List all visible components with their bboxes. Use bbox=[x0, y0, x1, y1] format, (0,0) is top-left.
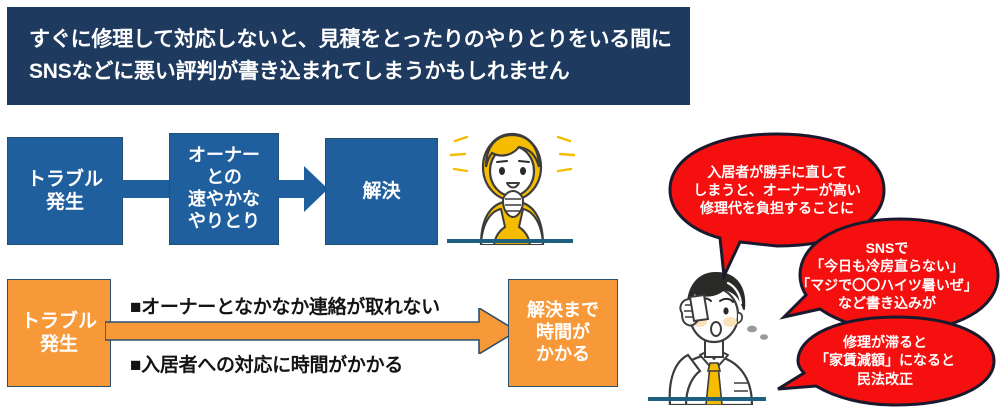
flowbox-trouble-blue: トラブル 発生 bbox=[7, 137, 123, 245]
label-line: 解決まで bbox=[527, 300, 599, 322]
header-banner: すぐに修理して対応しないと、見積をとったりのやりとりをいる間に SNSなどに悪い… bbox=[7, 7, 690, 105]
worried-man-phone-illustration bbox=[648, 265, 788, 405]
flowbox-trouble-blue-label: トラブル 発生 bbox=[27, 168, 103, 214]
label-line: 発生 bbox=[21, 333, 97, 356]
label-line: トラブル bbox=[21, 310, 97, 333]
header-line-2: SNSなどに悪い評判が書き込まれてしまうかもしれません bbox=[29, 56, 668, 88]
connector-bar-blue bbox=[122, 180, 170, 198]
flowbox-resolved: 解決 bbox=[325, 138, 438, 245]
bullet-owner-unreachable: ■オーナーとなかなか連絡が取れない bbox=[130, 292, 440, 319]
bullet-tenant-response-slow: ■入居者への対応に時間がかかる bbox=[130, 350, 403, 377]
arrow-right-blue-icon bbox=[278, 166, 328, 212]
speech-bubble-rent-reduction-law: 修理が滞ると 「家賃減額」になると 民法改正 bbox=[772, 313, 998, 408]
flowbox-trouble-orange: トラブル 発生 bbox=[7, 279, 111, 387]
flowbox-takes-time: 解決まで 時間が かかる bbox=[508, 279, 618, 387]
flowbox-resolved-label: 解決 bbox=[362, 180, 400, 203]
label-line: 時間が bbox=[527, 322, 599, 344]
flowbox-owner-communication: オーナー との 速やかな やりとり bbox=[169, 133, 279, 245]
label-line: 解決 bbox=[362, 180, 400, 203]
flowbox-trouble-orange-label: トラブル 発生 bbox=[21, 310, 97, 356]
speech-bubble-rent-reduction-law-shape bbox=[772, 313, 998, 408]
label-line: トラブル bbox=[27, 168, 103, 191]
label-line: 発生 bbox=[27, 191, 103, 214]
label-line: やりとり bbox=[188, 211, 260, 233]
flowbox-owner-communication-label: オーナー との 速やかな やりとり bbox=[188, 145, 260, 233]
header-line-1: すぐに修理して対応しないと、見積をとったりのやりとりをいる間に bbox=[29, 24, 668, 56]
happy-woman-illustration bbox=[445, 127, 580, 245]
label-line: との bbox=[188, 167, 260, 189]
label-line: かかる bbox=[527, 344, 599, 366]
flowbox-takes-time-label: 解決まで 時間が かかる bbox=[527, 300, 599, 366]
label-line: オーナー bbox=[188, 145, 260, 167]
label-line: 速やかな bbox=[188, 189, 260, 211]
